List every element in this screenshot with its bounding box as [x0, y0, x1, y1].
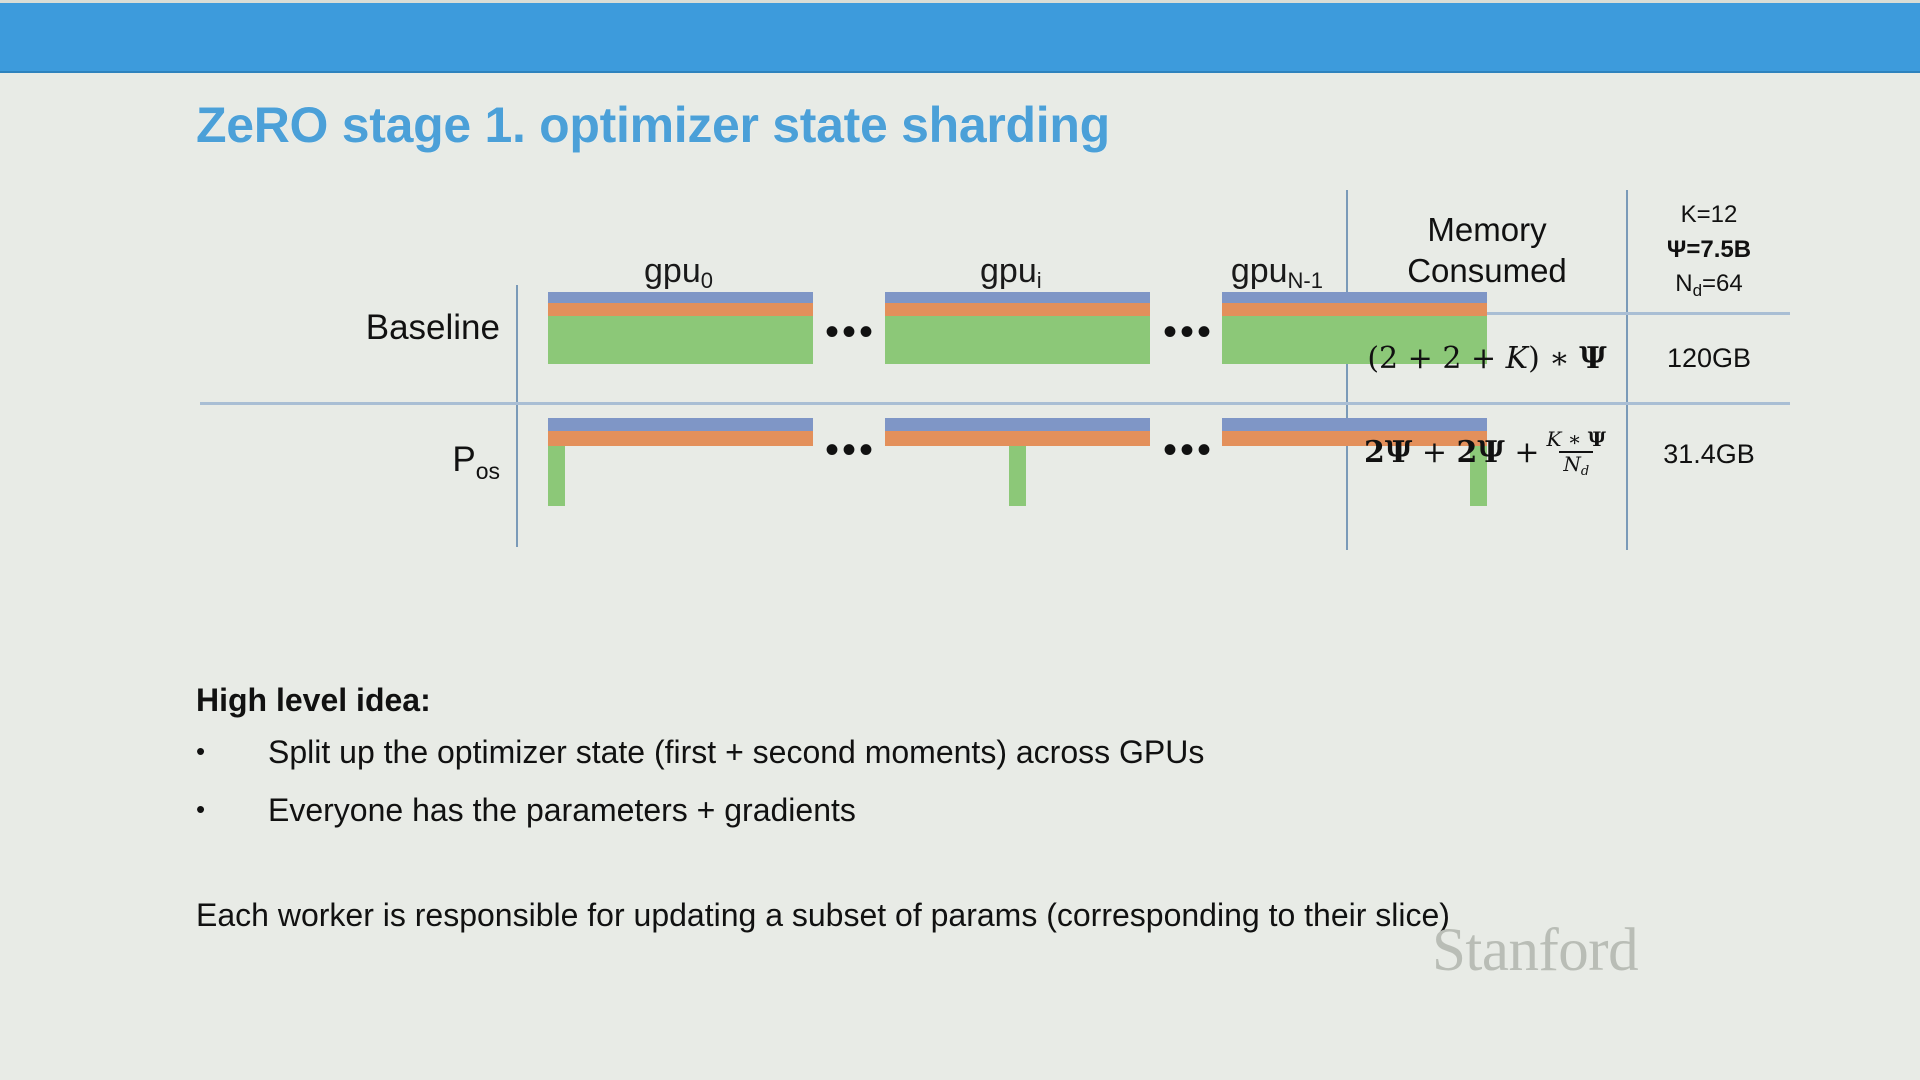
pos-bar-gpu0 [548, 418, 813, 508]
gpu-label-prefix-i: gpu [980, 252, 1037, 290]
top-banner [0, 3, 1920, 73]
list-item: • Everyone has the parameters + gradient… [196, 789, 1816, 832]
row-label-baseline-text: Baseline [366, 308, 500, 347]
param-k: K=12 [1667, 198, 1751, 233]
ellipsis-baseline-2: ••• [1163, 312, 1214, 352]
fraction-denominator: Nd [1559, 451, 1593, 475]
ellipsis-pos-1: ••• [825, 430, 876, 470]
bar-gradients [548, 431, 813, 446]
bar-parameters [548, 292, 813, 303]
bullet-icon: • [196, 789, 268, 829]
table-value-baseline: 120GB [1628, 314, 1790, 402]
bullet-text: Everyone has the parameters + gradients [268, 789, 856, 832]
row-label-pos-text: P [452, 440, 475, 479]
bar-optimizer-state [548, 316, 813, 364]
bar-gradients [885, 431, 1150, 446]
page-title: ZeRO stage 1. optimizer state sharding [196, 96, 1110, 154]
baseline-bar-gpui [885, 292, 1150, 364]
bar-parameters [885, 292, 1150, 303]
gpu-column-label-0: gpu0 [644, 252, 713, 291]
bar-optimizer-state [885, 316, 1150, 364]
param-nd-base: N [1675, 270, 1692, 297]
param-nd: Nd=64 [1667, 267, 1751, 302]
table-header-memory-line2: Consumed [1407, 250, 1567, 291]
gpu-label-subscript-i: i [1037, 268, 1042, 293]
table-header-parameters: K=12 Ψ=7.5B Nd=64 [1628, 190, 1790, 310]
list-item: • Split up the optimizer state (first + … [196, 731, 1816, 774]
bar-optimizer-shard [548, 446, 565, 506]
bullet-text: Split up the optimizer state (first + se… [268, 731, 1204, 774]
param-nd-sub: d [1693, 281, 1702, 300]
fraction-optimizer-shard: K ∗ ΨNd [1542, 429, 1610, 475]
row-label-pos-subscript: os [476, 458, 500, 484]
bar-parameters [885, 418, 1150, 431]
table-header-memory-consumed: Memory Consumed [1348, 190, 1626, 310]
bar-gradients [885, 303, 1150, 316]
zero-memory-figure: gpu0 gpui gpuN-1 Baseline Pos [170, 190, 1790, 575]
table-formula-baseline: (2 + 2 + K) ∗ Ψ [1348, 314, 1626, 402]
slide-root: ZeRO stage 1. optimizer state sharding g… [0, 0, 1920, 1080]
table-header-memory-line1: Memory [1407, 209, 1567, 250]
pos-bar-gpui [885, 418, 1150, 508]
bar-parameters [548, 418, 813, 431]
bullet-icon: • [196, 731, 268, 771]
gpu-label-prefix-0: gpu [644, 252, 701, 290]
body-lead: High level idea: [196, 682, 1816, 719]
gpu-label-prefix-n: gpu [1231, 252, 1288, 290]
bullet-list: • Split up the optimizer state (first + … [196, 731, 1816, 832]
gpu-column-label-n: gpuN-1 [1231, 252, 1323, 291]
gpu-label-subscript-0: 0 [701, 268, 713, 293]
param-psi: Ψ=7.5B [1667, 233, 1751, 268]
row-label-pos: Pos [170, 440, 500, 480]
param-nd-value: =64 [1702, 270, 1743, 297]
fraction-numerator: K ∗ Ψ [1542, 429, 1610, 451]
ellipsis-baseline-1: ••• [825, 312, 876, 352]
gpu-column-label-i: gpui [980, 252, 1042, 291]
ellipsis-pos-2: ••• [1163, 430, 1214, 470]
body-content: High level idea: • Split up the optimize… [196, 682, 1816, 938]
gpu-label-subscript-n: N-1 [1288, 268, 1323, 293]
bar-optimizer-shard [1009, 446, 1026, 506]
baseline-bar-gpu0 [548, 292, 813, 364]
bar-gradients [548, 303, 813, 316]
table-value-pos: 31.4GB [1628, 404, 1790, 504]
row-label-baseline: Baseline [170, 308, 500, 348]
divider-vertical-left [516, 285, 518, 547]
table-formula-pos: 2Ψ + 2Ψ +K ∗ ΨNd [1348, 404, 1626, 504]
body-closing: Each worker is responsible for updating … [196, 894, 1816, 937]
